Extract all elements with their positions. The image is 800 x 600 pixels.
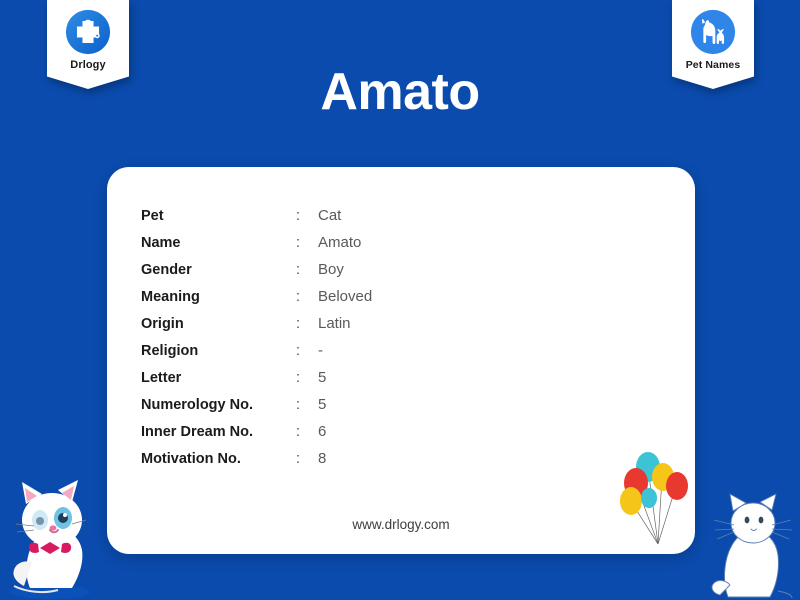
row-value: 6	[318, 423, 326, 440]
table-row: Name : Amato	[141, 234, 372, 261]
dog-and-cat-silhouette-icon	[690, 9, 736, 55]
table-row: Inner Dream No. : 6	[141, 423, 372, 450]
row-colon: :	[296, 316, 318, 332]
row-label: Numerology No.	[141, 397, 296, 413]
table-row: Meaning : Beloved	[141, 288, 372, 315]
row-label: Religion	[141, 343, 296, 359]
row-value: -	[318, 342, 323, 359]
row-value: Boy	[318, 261, 344, 278]
row-colon: :	[296, 451, 318, 467]
white-cat-lineart-illustration	[706, 487, 796, 600]
row-value: Beloved	[318, 288, 372, 305]
table-row: Religion : -	[141, 342, 372, 369]
white-cat-with-bow-illustration	[0, 460, 92, 600]
row-colon: :	[296, 370, 318, 386]
table-row: Motivation No. : 8	[141, 450, 372, 477]
row-colon: :	[296, 235, 318, 251]
table-row: Origin : Latin	[141, 315, 372, 342]
row-value: Latin	[318, 315, 351, 332]
row-label: Inner Dream No.	[141, 424, 296, 440]
row-colon: :	[296, 289, 318, 305]
row-label: Motivation No.	[141, 451, 296, 467]
row-colon: :	[296, 397, 318, 413]
drlogy-medical-cross-stethoscope-icon	[65, 9, 111, 55]
row-value: Amato	[318, 234, 361, 251]
row-label: Pet	[141, 208, 296, 224]
pet-name-info-card: Pet : Cat Name : Amato Gender : Boy Mean…	[107, 167, 695, 554]
row-value: 8	[318, 450, 326, 467]
table-row: Numerology No. : 5	[141, 396, 372, 423]
row-label: Origin	[141, 316, 296, 332]
info-table: Pet : Cat Name : Amato Gender : Boy Mean…	[141, 207, 372, 477]
row-colon: :	[296, 343, 318, 359]
row-value: 5	[318, 396, 326, 413]
balloons-illustration	[618, 448, 696, 548]
table-row: Letter : 5	[141, 369, 372, 396]
page-title: Amato	[0, 66, 800, 118]
website-url: www.drlogy.com	[107, 517, 695, 532]
row-value: 5	[318, 369, 326, 386]
row-label: Letter	[141, 370, 296, 386]
row-colon: :	[296, 424, 318, 440]
table-row: Pet : Cat	[141, 207, 372, 234]
row-colon: :	[296, 262, 318, 278]
row-label: Gender	[141, 262, 296, 278]
row-label: Meaning	[141, 289, 296, 305]
row-label: Name	[141, 235, 296, 251]
row-value: Cat	[318, 207, 341, 224]
row-colon: :	[296, 208, 318, 224]
table-row: Gender : Boy	[141, 261, 372, 288]
